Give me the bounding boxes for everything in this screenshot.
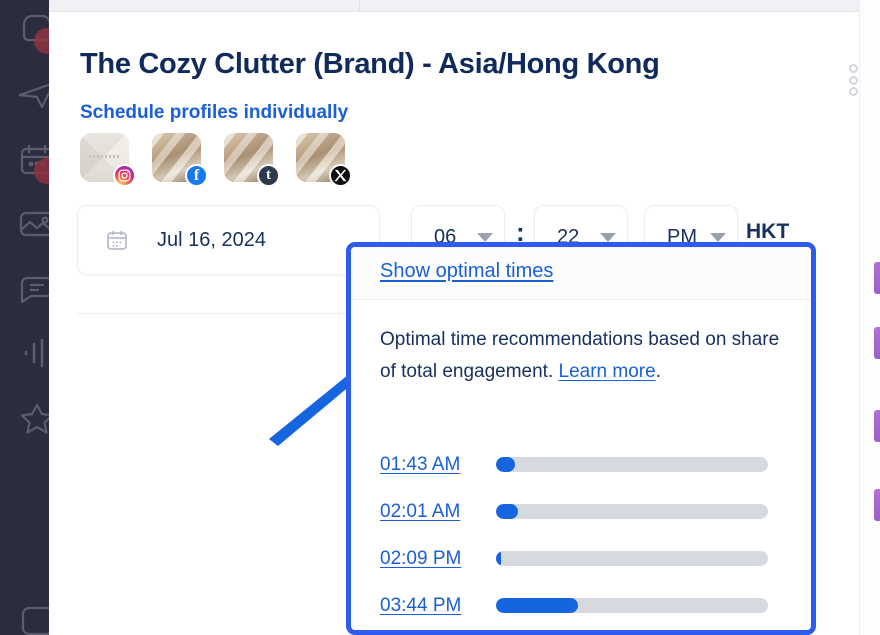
app-root: The Cozy Clutter (Brand) - Asia/Hong Kon… (0, 0, 880, 635)
timezone-label: HKT (746, 220, 789, 244)
section-divider (77, 313, 369, 314)
instagram-icon (113, 164, 136, 187)
optimal-times-panel: Show optimal times Optimal time recommen… (346, 242, 816, 635)
chevron-down-icon (477, 233, 493, 242)
optimal-time-row[interactable]: 02:01 AM (351, 488, 811, 535)
engagement-bar-track (496, 598, 768, 613)
optimal-time-label[interactable]: 02:01 AM (380, 501, 496, 523)
engagement-bar-fill (496, 504, 518, 519)
engagement-bar-track (496, 504, 768, 519)
list-item[interactable] (874, 410, 880, 442)
notifications-badge (34, 28, 49, 54)
optimal-time-row[interactable]: 01:43 AM (351, 441, 811, 488)
tumblr-icon: t (257, 164, 280, 187)
right-edge-panel (859, 0, 880, 635)
profile-avatars: f t (80, 133, 345, 182)
topbar-divider (359, 0, 360, 11)
optimal-time-label[interactable]: 03:44 PM (380, 595, 496, 617)
left-sidebar (0, 0, 49, 635)
engagement-bar-track (496, 551, 768, 566)
sidebar-item-media[interactable] (14, 203, 49, 243)
sidebar-item-comments[interactable] (14, 268, 49, 308)
schedule-individually-link[interactable]: Schedule profiles individually (80, 102, 348, 124)
optimal-time-row[interactable]: 03:44 PM (351, 582, 811, 629)
learn-more-link[interactable]: Learn more (559, 361, 656, 382)
optimal-time-label[interactable]: 01:43 AM (380, 454, 496, 476)
sidebar-item-extra[interactable] (14, 600, 49, 635)
calendar-icon (105, 228, 129, 252)
calendar-badge (34, 158, 49, 184)
optimal-times-list: 01:43 AM02:01 AM02:09 PM03:44 PM (351, 441, 811, 629)
kebab-dot-2 (849, 76, 858, 85)
optimal-time-row[interactable]: 02:09 PM (351, 535, 811, 582)
sidebar-item-send[interactable] (14, 75, 49, 115)
description-period: . (656, 361, 661, 382)
avatar-tumblr[interactable]: t (224, 133, 273, 182)
optimal-time-label[interactable]: 02:09 PM (380, 548, 496, 570)
sidebar-item-star[interactable] (14, 398, 49, 438)
list-item[interactable] (874, 327, 880, 359)
sidebar-item-analytics[interactable] (14, 333, 49, 373)
engagement-bar-fill (496, 457, 515, 472)
engagement-bar-fill (496, 598, 578, 613)
engagement-bar-track (496, 457, 768, 472)
list-item[interactable] (874, 262, 880, 294)
date-field[interactable]: Jul 16, 2024 (77, 205, 380, 275)
engagement-bar-fill (496, 551, 501, 566)
x-icon (329, 164, 352, 187)
chevron-down-icon (710, 233, 726, 242)
show-optimal-times-link[interactable]: Show optimal times (380, 260, 553, 283)
avatar-instagram[interactable] (80, 133, 129, 182)
avatar-facebook[interactable]: f (152, 133, 201, 182)
list-item[interactable] (874, 489, 880, 521)
window-topbar (49, 0, 880, 12)
kebab-dot-3 (849, 87, 858, 96)
facebook-icon: f (185, 164, 208, 187)
date-value: Jul 16, 2024 (157, 229, 266, 252)
optimal-times-header: Show optimal times (351, 247, 811, 300)
optimal-times-panel-inner: Show optimal times Optimal time recommen… (351, 247, 811, 630)
chevron-down-icon (600, 233, 616, 242)
optimal-times-description: Optimal time recommendations based on sh… (380, 324, 792, 388)
avatar-x[interactable] (296, 133, 345, 182)
kebab-dot-1 (849, 64, 858, 73)
page-title: The Cozy Clutter (Brand) - Asia/Hong Kon… (80, 48, 660, 81)
